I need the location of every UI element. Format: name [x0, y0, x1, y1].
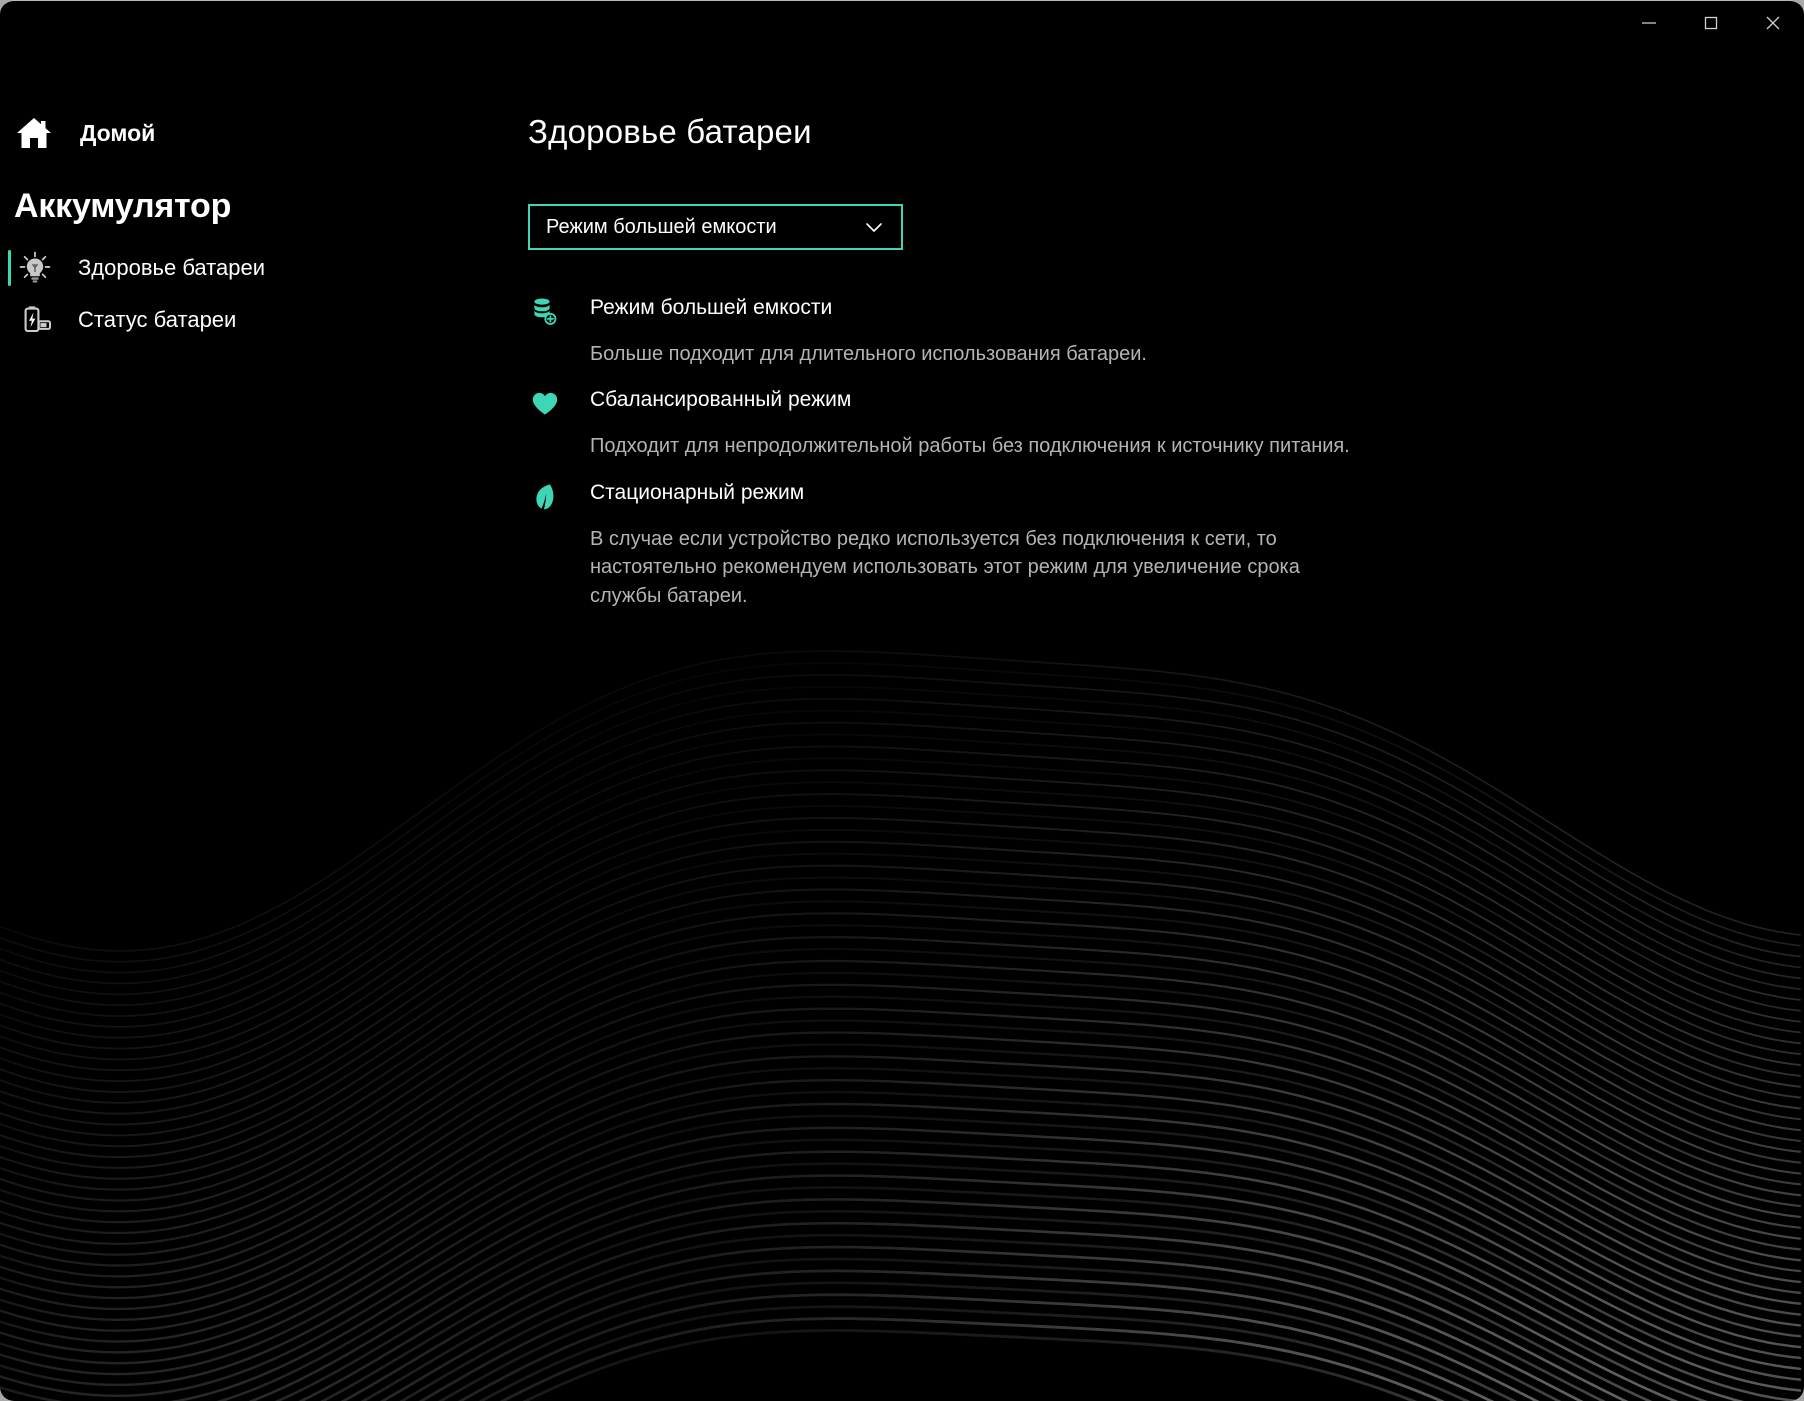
mode-description: Больше подходит для длительного использо… [590, 340, 1350, 368]
mode-select-value: Режим большей емкости [546, 216, 777, 239]
sidebar-home-label: Домой [80, 120, 155, 147]
maximize-button[interactable] [1680, 1, 1742, 45]
close-button[interactable] [1742, 1, 1804, 45]
sidebar-item-battery-status[interactable]: Статус батареи [0, 294, 470, 346]
mode-description: Подходит для непродолжительной работы бе… [590, 432, 1350, 460]
sidebar-item-label: Здоровье батареи [78, 255, 265, 281]
mode-description: В случае если устройство редко используе… [590, 525, 1350, 610]
page-title: Здоровье батареи [528, 113, 1764, 151]
database-plus-icon [528, 297, 562, 327]
mode-name: Сбалансированный режим [590, 388, 851, 412]
mode-name: Стационарный режим [590, 481, 804, 505]
minimize-icon [1639, 13, 1659, 33]
sidebar-item-label: Статус батареи [78, 307, 236, 333]
close-icon [1763, 13, 1783, 33]
mode-item: Режим большей емкости Больше подходит дл… [528, 296, 1764, 368]
mode-description-list: Режим большей емкости Больше подходит дл… [528, 296, 1764, 610]
chevron-down-icon [861, 214, 887, 240]
sidebar-section-title: Аккумулятор [14, 187, 470, 226]
title-bar [0, 1, 1804, 57]
mode-item: Сбалансированный режим Подходит для непр… [528, 388, 1764, 460]
leaf-icon [528, 482, 562, 512]
sidebar-item-home[interactable]: Домой [0, 109, 470, 157]
main-content: Здоровье батареи Режим большей емкости [470, 1, 1804, 1401]
app-window: Домой Аккумулятор [0, 0, 1804, 1401]
sidebar: Домой Аккумулятор [0, 1, 470, 1401]
sidebar-item-battery-health[interactable]: Здоровье батареи [0, 242, 470, 294]
mode-name: Режим большей емкости [590, 296, 832, 320]
mode-item: Стационарный режим В случае если устройс… [528, 481, 1764, 610]
battery-bolt-icon [14, 299, 56, 341]
minimize-button[interactable] [1618, 1, 1680, 45]
maximize-icon [1701, 13, 1721, 33]
mode-select-combobox[interactable]: Режим большей емкости [528, 204, 903, 250]
home-icon [14, 113, 54, 153]
heart-icon [528, 389, 562, 419]
lightbulb-icon [14, 247, 56, 289]
